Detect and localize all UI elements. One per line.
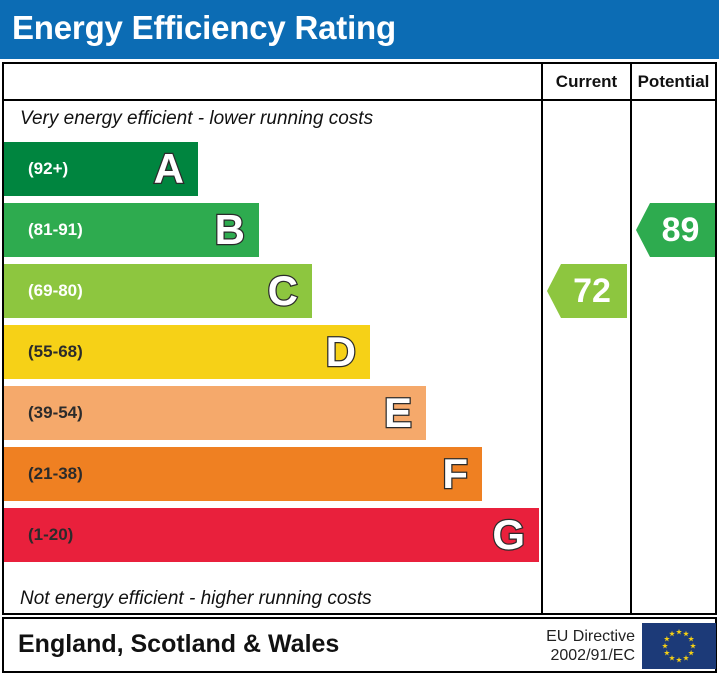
rating-band-g: (1-20)G (4, 508, 539, 562)
potential-rating-value: 89 (652, 213, 700, 247)
band-letter-c: C (268, 270, 298, 312)
band-letter-d: D (326, 331, 356, 373)
rating-band-d: (55-68)D (4, 325, 370, 379)
footer-directive: EU Directive 2002/91/EC (523, 627, 635, 665)
chart-footer: England, Scotland & Wales EU Directive 2… (2, 617, 717, 673)
energy-efficiency-certificate: Energy Efficiency Rating Current Potenti… (0, 0, 719, 675)
rating-chart: Current Potential Very energy efficient … (2, 62, 717, 615)
column-divider-potential (630, 64, 632, 613)
current-rating-value: 72 (563, 274, 611, 308)
band-letter-a: A (154, 148, 184, 190)
column-header-current: Current (543, 64, 630, 99)
band-range-label-a: (92+) (28, 142, 68, 196)
band-range-label-g: (1-20) (28, 508, 73, 562)
band-range-label-e: (39-54) (28, 386, 83, 440)
band-letter-b: B (215, 209, 245, 251)
band-range-label-d: (55-68) (28, 325, 83, 379)
band-letter-e: E (384, 392, 412, 434)
band-letter-f: F (442, 453, 468, 495)
caption-inefficient: Not energy efficient - higher running co… (20, 588, 372, 610)
column-header-potential: Potential (632, 64, 715, 99)
potential-rating-arrow: 89 (636, 203, 715, 257)
eu-flag-stars (642, 623, 716, 669)
directive-line-2: 2002/91/EC (523, 646, 635, 665)
rating-band-e: (39-54)E (4, 386, 426, 440)
rating-band-c: (69-80)C (4, 264, 312, 318)
band-letter-g: G (492, 514, 525, 556)
rating-band-b: (81-91)B (4, 203, 259, 257)
eu-flag-icon (642, 623, 716, 669)
chart-title-bar: Energy Efficiency Rating (0, 0, 719, 59)
band-range-label-f: (21-38) (28, 447, 83, 501)
page-title: Energy Efficiency Rating (12, 9, 396, 47)
footer-region-label: England, Scotland & Wales (18, 630, 339, 659)
directive-line-1: EU Directive (523, 627, 635, 646)
column-header-row: Current Potential (4, 64, 715, 101)
band-range-label-c: (69-80) (28, 264, 83, 318)
band-range-label-b: (81-91) (28, 203, 83, 257)
rating-band-a: (92+)A (4, 142, 198, 196)
caption-efficient: Very energy efficient - lower running co… (20, 108, 373, 130)
current-rating-arrow: 72 (547, 264, 627, 318)
column-divider-current (541, 64, 543, 613)
rating-band-f: (21-38)F (4, 447, 482, 501)
